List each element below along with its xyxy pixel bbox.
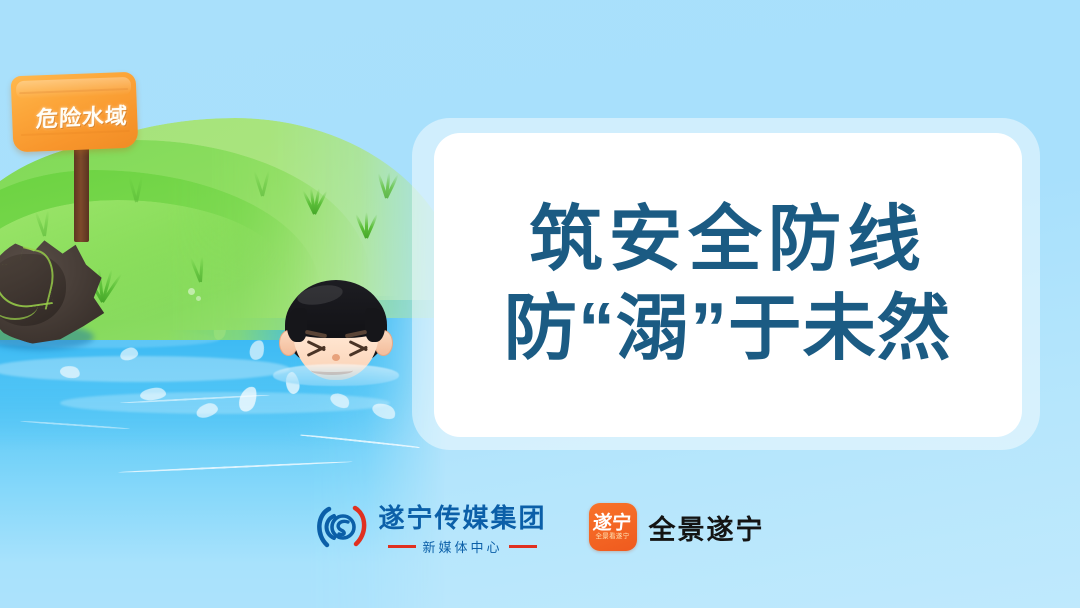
app-badge-icon: 遂宁 全景看遂宁 <box>589 503 637 551</box>
logo-suining-media-group[interactable]: 遂宁传媒集团 新媒体中心 <box>315 498 546 556</box>
sign-post <box>74 134 89 242</box>
media-group-sub: 新媒体中心 <box>422 537 502 556</box>
hair-side-right <box>365 308 385 342</box>
bubble-dot <box>196 296 201 301</box>
logo-quanjing-suining[interactable]: 遂宁 全景看遂宁 全景遂宁 <box>589 503 765 551</box>
app-badge-main: 遂宁 <box>592 514 632 533</box>
grass-tuft-icon <box>186 256 212 282</box>
riverside-rock <box>0 236 112 346</box>
media-group-name: 遂宁传媒集团 <box>378 498 546 535</box>
divider-left <box>388 545 416 548</box>
headline-line-1: 筑安全防线 <box>529 204 927 277</box>
warning-sign[interactable]: 危险水域 <box>12 74 152 244</box>
grass-tuft-icon <box>248 170 274 196</box>
app-name: 全景遂宁 <box>649 508 765 547</box>
eye-right <box>347 340 367 356</box>
waterline-overlay <box>273 364 399 386</box>
grass-tuft-icon <box>372 172 398 198</box>
nose <box>332 354 340 361</box>
swirl-logo-icon <box>315 501 367 553</box>
sign-wood-grain <box>19 88 128 94</box>
hair-side-left <box>287 308 307 342</box>
app-badge-sub: 全景看遂宁 <box>596 534 630 541</box>
grass-tuft-icon <box>300 188 326 214</box>
drowning-child-head <box>281 280 391 392</box>
headline-line-2: 防“溺”于未然 <box>504 293 952 366</box>
footer-logos: 遂宁传媒集团 新媒体中心 遂宁 全景看遂宁 全景遂宁 <box>0 498 1080 556</box>
poster-canvas: 危险水域 筑安全防线 防“溺”于未然 <box>0 0 1080 608</box>
media-group-subrow: 新媒体中心 <box>388 537 536 556</box>
headline-card: 筑安全防线 防“溺”于未然 <box>434 133 1022 437</box>
sign-label: 危险水域 <box>12 97 153 134</box>
wave-band <box>0 356 290 382</box>
bubble-dot <box>188 288 195 295</box>
divider-right <box>509 545 537 548</box>
grass-tuft-icon <box>352 212 378 238</box>
eye-left <box>305 340 325 356</box>
